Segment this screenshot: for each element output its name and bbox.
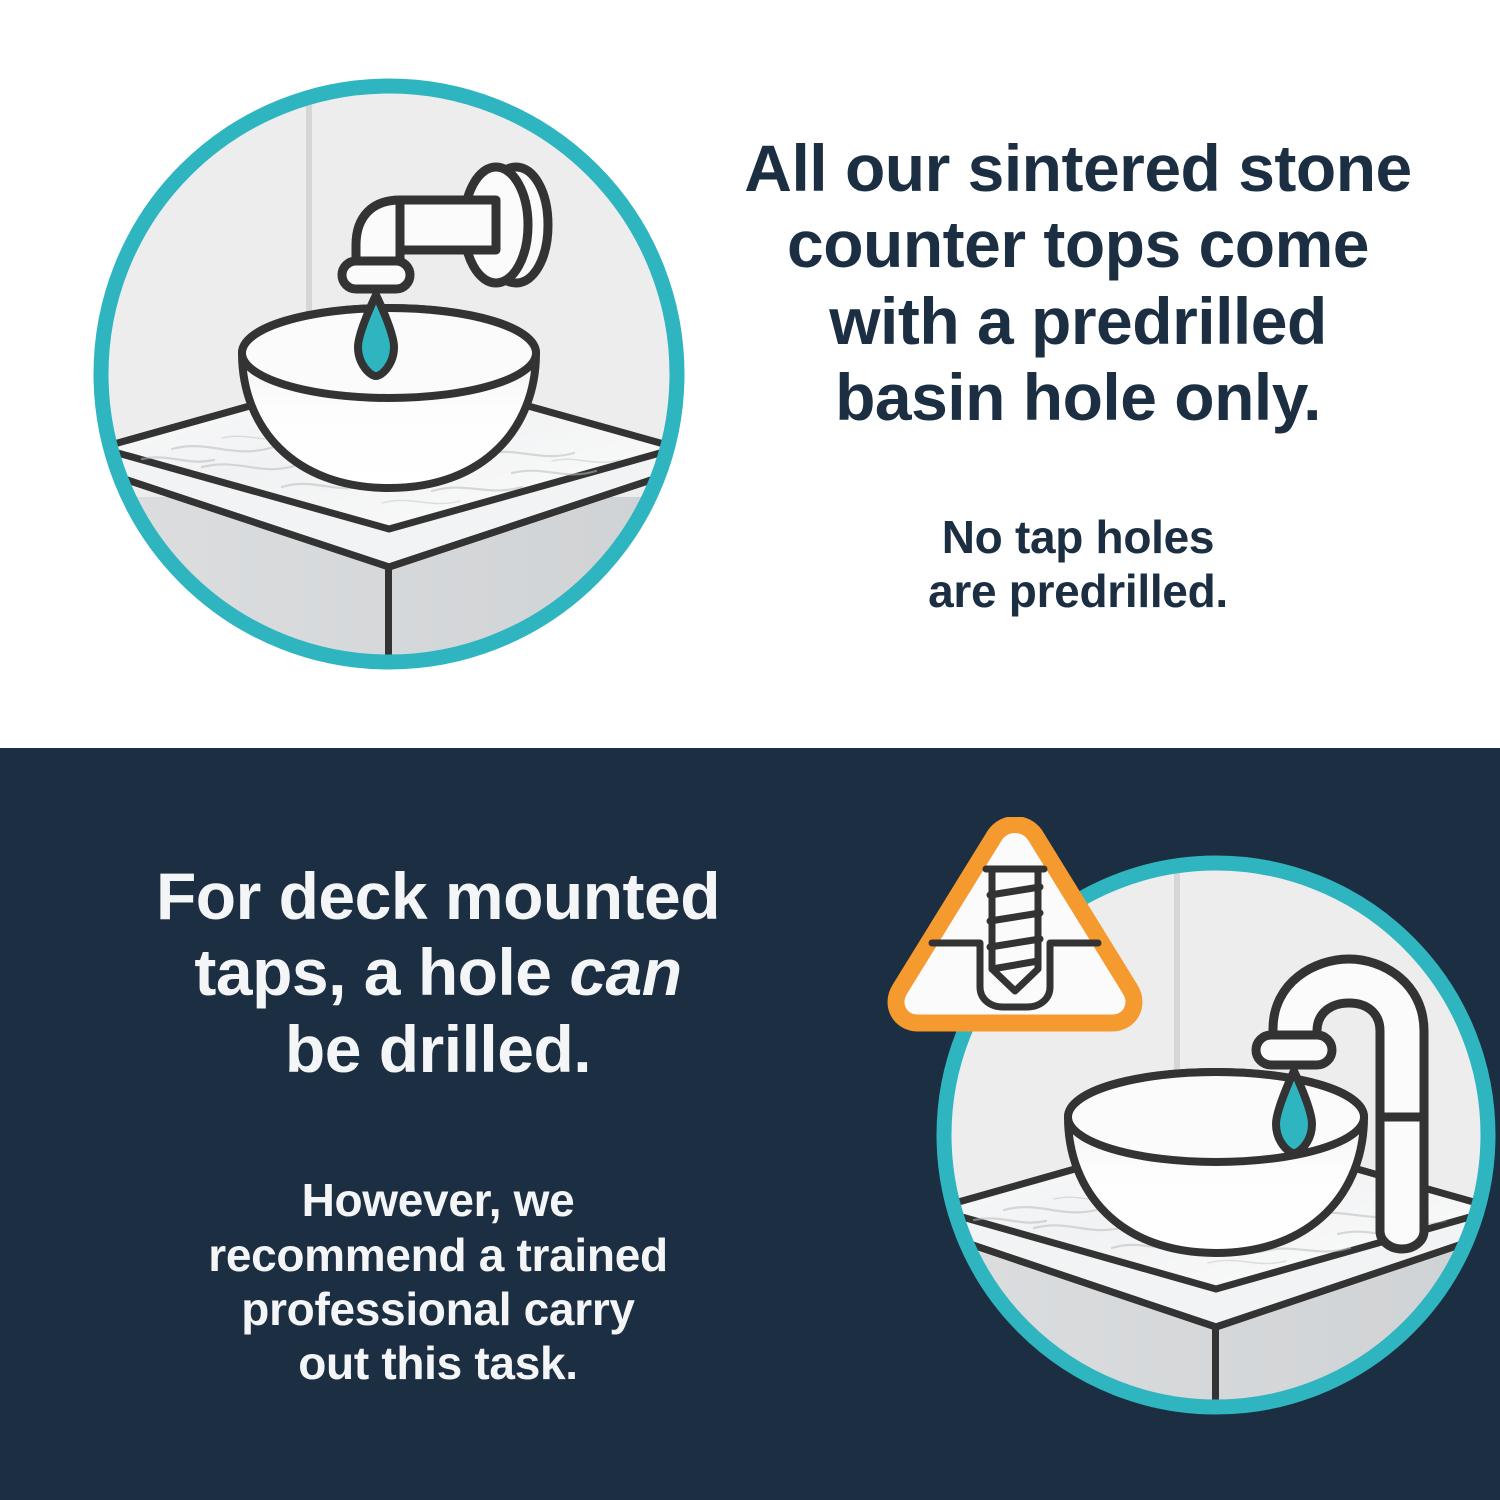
bottom-headline-emphasis: can [569, 935, 681, 1009]
bottom-headline-line-2: taps, a hole can [156, 934, 720, 1011]
bottom-headline: For deck mounted taps, a hole can be dri… [156, 858, 720, 1088]
top-headline-line-4: basin hole only. [744, 359, 1411, 436]
wall-mounted-tap-illustration [82, 67, 696, 681]
infographic-root: All our sintered stone counter tops come… [0, 0, 1500, 1500]
gooseneck-tap-front-column [1380, 1117, 1424, 1249]
top-illustration [82, 67, 696, 681]
top-headline-line-2: counter tops come [744, 206, 1411, 283]
top-subline-line-1: No tap holes [928, 510, 1228, 564]
top-subline-line-2: are predrilled. [928, 564, 1228, 618]
top-panel: All our sintered stone counter tops come… [0, 0, 1500, 748]
bottom-text-column: For deck mounted taps, a hole can be dri… [0, 858, 846, 1391]
bottom-headline-line-2-text: taps, a hole [194, 935, 569, 1009]
bottom-subline: However, we recommend a trained professi… [208, 1173, 668, 1390]
top-headline-line-1: All our sintered stone [744, 130, 1411, 207]
bottom-headline-line-3: be drilled. [156, 1011, 720, 1088]
bottom-subline-line-4: out this task. [208, 1336, 668, 1390]
top-text-column: All our sintered stone counter tops come… [696, 130, 1500, 619]
bottom-headline-line-1: For deck mounted [156, 858, 720, 935]
bottom-subline-line-2: recommend a trained [208, 1228, 668, 1282]
top-subline: No tap holes are predrilled. [928, 510, 1228, 619]
bottom-panel: For deck mounted taps, a hole can be dri… [0, 748, 1500, 1500]
top-headline-line-3: with a predrilled [744, 283, 1411, 360]
deck-mounted-tap-illustration [886, 817, 1500, 1431]
top-headline: All our sintered stone counter tops come… [744, 130, 1411, 436]
top-scene-content [82, 67, 696, 681]
bottom-illustration [886, 817, 1500, 1431]
bottom-subline-line-3: professional carry [208, 1282, 668, 1336]
orange-warning-triangle [896, 825, 1134, 1024]
bottom-subline-line-1: However, we [208, 1173, 668, 1227]
cabinet-seam [1212, 1325, 1219, 1431]
